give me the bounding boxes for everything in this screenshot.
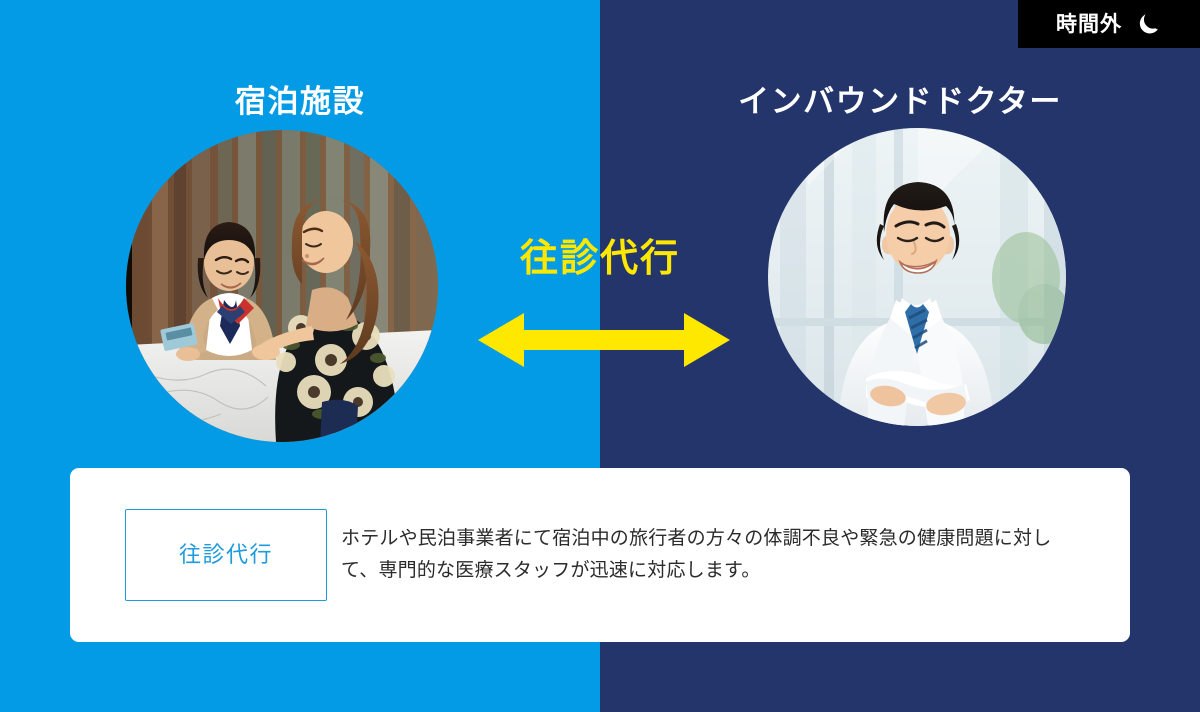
left-column-title: 宿泊施設	[0, 80, 600, 124]
service-tag-box: 往診代行	[125, 509, 327, 601]
service-description-text: ホテルや民泊事業者にて宿泊中の旅行者の方々の体調不良や緊急の健康問題に対して、専…	[341, 523, 1130, 587]
off-hours-badge: 時間外	[1018, 0, 1200, 48]
service-tag-label: 往診代行	[179, 544, 273, 566]
right-column-title: インバウンドドクター	[600, 80, 1200, 124]
off-hours-badge-label: 時間外	[1056, 14, 1122, 35]
doctor-photo	[768, 128, 1066, 426]
hotel-photo	[126, 130, 438, 442]
service-description-card: 往診代行 ホテルや民泊事業者にて宿泊中の旅行者の方々の体調不良や緊急の健康問題に…	[70, 468, 1130, 642]
center-service-label: 往診代行	[460, 236, 740, 282]
moon-icon	[1136, 11, 1162, 37]
double-headed-arrow-icon	[470, 305, 738, 375]
slide-canvas: 時間外 宿泊施設 インバウンドドクター	[0, 0, 1200, 712]
